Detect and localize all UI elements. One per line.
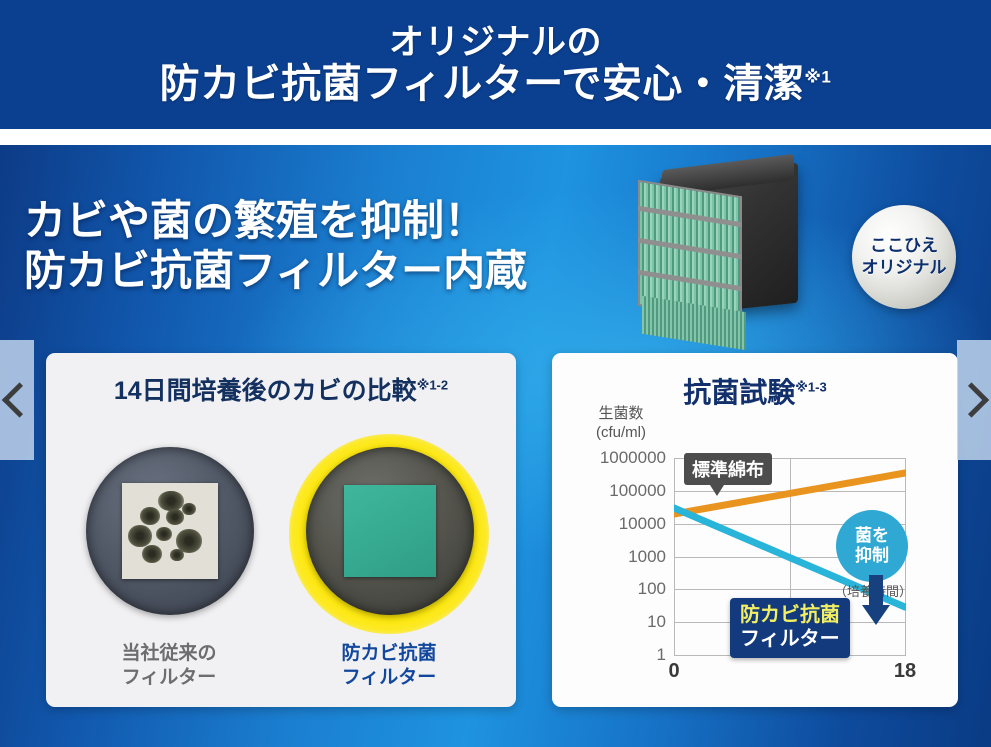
chevron-left-icon — [2, 382, 37, 417]
footnote-marker: ※1-2 — [417, 378, 448, 393]
y-tick: 1000 — [628, 547, 666, 567]
x-tick: 18 — [894, 660, 916, 683]
badge-line-1: ここひえ — [870, 235, 938, 257]
suppression-line-1: 菌を — [855, 526, 889, 546]
mold-comparison-title: 14日間培養後のカビの比較※1-2 — [46, 371, 516, 407]
y-tick: 1 — [657, 645, 666, 665]
hero-line-2: 防カビ抗菌フィルター内蔵 — [24, 246, 624, 296]
carousel-next-button[interactable] — [957, 340, 991, 460]
y-tick: 10 — [647, 612, 666, 632]
y-tick: 100000 — [609, 481, 666, 501]
y-tick: 1000000 — [600, 448, 666, 468]
header-banner: オリジナルの 防カビ抗菌フィルターで安心・清潔※1 — [0, 0, 991, 129]
header-text: オリジナルの 防カビ抗菌フィルターで安心・清潔※1 — [160, 23, 832, 107]
dish-label-antibacterial: 防カビ抗菌 フィルター — [284, 642, 494, 691]
sample-antibacterial — [344, 485, 436, 577]
y-tick: 10000 — [619, 514, 666, 534]
series-tooltip-cotton: 標準綿布 — [684, 453, 772, 485]
petri-dish-antibacterial — [284, 429, 494, 639]
suppression-callout-circle: 菌を 抑制 — [836, 510, 908, 582]
petri-dish-conventional — [64, 429, 274, 639]
series-callout-filter: 防カビ抗菌 フィルター — [730, 598, 850, 658]
chevron-right-icon — [954, 382, 989, 417]
badge-line-2: オリジナル — [862, 257, 947, 279]
product-filter-image — [632, 158, 812, 343]
original-badge: ここひえ オリジナル — [852, 205, 956, 309]
dish-antibacterial — [306, 447, 474, 615]
mold-comparison-panel: 14日間培養後のカビの比較※1-2 — [46, 353, 516, 707]
dish-conventional — [86, 447, 254, 615]
hero-headline: カビや菌の繁殖を抑制！ 防カビ抗菌フィルター内蔵 — [24, 196, 624, 297]
ad-slide: オリジナルの 防カビ抗菌フィルターで安心・清潔※1 カビや菌の繁殖を抑制！ 防カ… — [0, 0, 991, 747]
header-line-1: オリジナルの — [160, 23, 832, 62]
suppression-line-2: 抑制 — [855, 546, 889, 566]
header-line-2: 防カビ抗菌フィルターで安心・清潔※1 — [160, 62, 832, 107]
callout-line-1: 防カビ抗菌 — [740, 603, 840, 627]
callout-line-2: フィルター — [740, 627, 840, 651]
y-tick: 100 — [638, 579, 666, 599]
footnote-marker: ※1-3 — [795, 380, 826, 395]
dish-label-conventional: 当社従来の フィルター — [64, 642, 274, 691]
y-axis-label: 生菌数(cfu/ml) — [566, 405, 676, 443]
x-tick: 0 — [668, 660, 679, 683]
header-divider — [0, 129, 991, 145]
sample-conventional — [122, 483, 218, 579]
carousel-prev-button[interactable] — [0, 340, 34, 460]
header-footnote-marker: ※1 — [804, 67, 831, 86]
hero-line-1: カビや菌の繁殖を抑制！ — [24, 196, 624, 246]
